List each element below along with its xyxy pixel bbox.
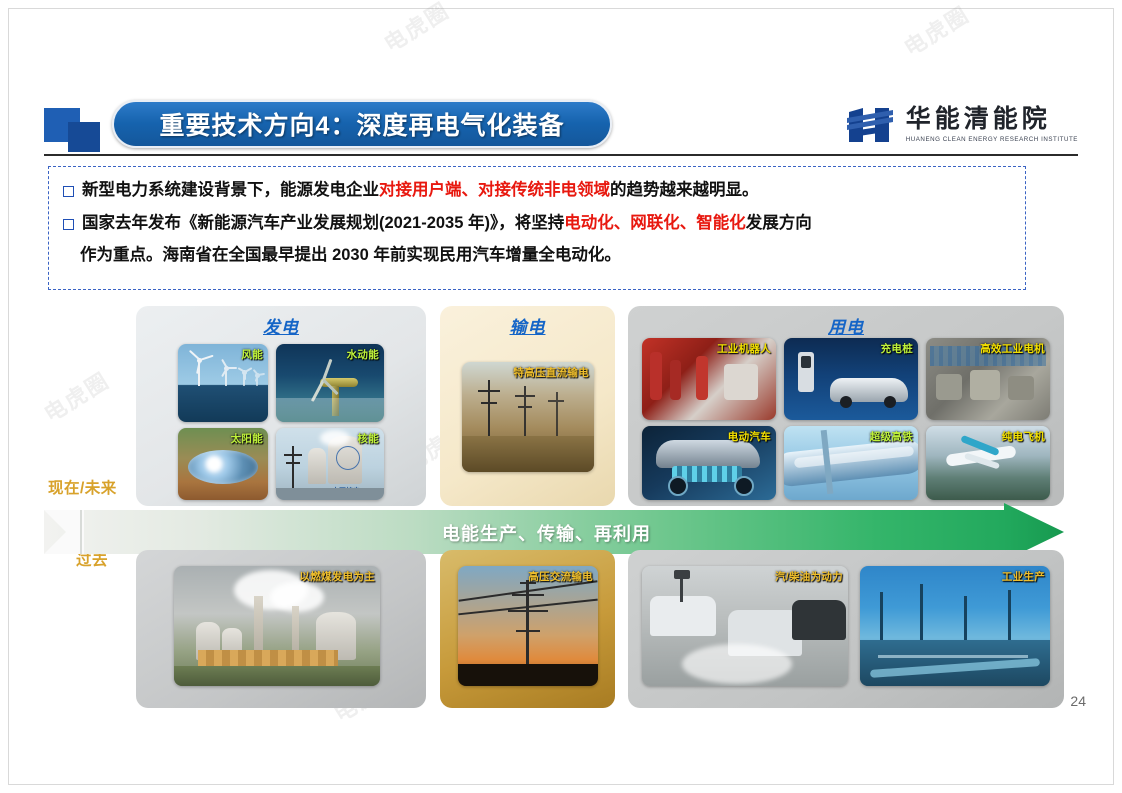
bullet-text-2-continued: 作为重点。海南省在全国最早提出 2030 年前实现民用汽车增量全电动化。 <box>63 242 1011 269</box>
arrow-label: 电能生产、传输、再利用 <box>442 520 651 546</box>
tile-robot: 工业机器人 <box>642 338 776 420</box>
tile-solar: 太阳能 <box>178 428 268 500</box>
panel-generation-past: 以燃煤发电为主 <box>136 550 426 708</box>
bullet-2-part-2: 发展方向 <box>746 214 812 232</box>
tile-caption: 汽/柴油为动力 <box>775 569 843 584</box>
tile-caption: 超级高铁 <box>870 429 913 444</box>
tile-caption: 高压交流输电 <box>528 569 593 584</box>
panel-transmission-past: 高压交流输电 <box>440 550 615 708</box>
bullet-text-1: 新型电力系统建设背景下，能源发电企业对接用户端、对接传统非电领域的趋势越来越明显… <box>82 177 759 204</box>
timeline-arrow: 电能生产、传输、再利用 <box>44 510 1064 554</box>
tile-hvac: 高压交流输电 <box>458 566 598 686</box>
column-header-transmission: 输电 <box>440 313 615 338</box>
page-title: 重要技术方向4：深度再电气化装备 <box>160 106 565 142</box>
logo-text-cn: 华能清能院 <box>906 107 1078 132</box>
tile-motor: 高效工业电机 <box>926 338 1050 420</box>
page-title-pill: 重要技术方向4：深度再电气化装备 <box>112 100 612 148</box>
panel-generation-present: 发电 <box>136 306 426 506</box>
tile-hyperloop: 超级高铁 <box>784 426 918 500</box>
tile-wind: 风能 <box>178 344 268 422</box>
axis-label-present: 现在/未来 <box>48 476 117 498</box>
bullet-text-2: 国家去年发布《新能源汽车产业发展规划(2021-2035 年)》，将坚持电动化、… <box>82 210 812 237</box>
bullet-2-part-0: 国家去年发布《新能源汽车产业发展规划(2021-2035 年)》，将坚持 <box>82 214 564 232</box>
bullet-square-icon <box>63 186 74 197</box>
panel-transmission-present: 输电 特高压直流输电 <box>440 306 615 506</box>
tile-caption: 以燃煤发电为主 <box>299 569 375 584</box>
bullet-2-part-1: 电动化、网联化、智能化 <box>564 214 746 232</box>
bullet-1-part-1: 对接用户端、对接传统非电领域 <box>379 181 610 199</box>
bullet-item: 国家去年发布《新能源汽车产业发展规划(2021-2035 年)》，将坚持电动化、… <box>63 210 1011 237</box>
page-number: 24 <box>1070 693 1086 709</box>
tile-caption: 太阳能 <box>231 431 263 446</box>
slide-header: 重要技术方向4：深度再电气化装备 华能清能院 HUANENG CLEAN ENE… <box>44 100 1078 156</box>
tile-uhvdc: 特高压直流输电 <box>462 362 594 472</box>
bullet-1-part-2: 的趋势越来越明显。 <box>610 181 759 199</box>
tile-charger: 充电桩 <box>784 338 918 420</box>
tile-ev: 电动汽车 <box>642 426 776 500</box>
accent-square-secondary <box>68 122 100 152</box>
tile-caption: 水动能 <box>347 347 379 362</box>
tile-traffic: 汽/柴油为动力 <box>642 566 848 686</box>
reelectrification-diagram: 现在/未来 过去 发电 <box>44 298 1064 710</box>
tile-caption: 风能 <box>241 347 263 362</box>
logo-text-en: HUANENG CLEAN ENERGY RESEARCH INSTITUTE <box>906 136 1078 143</box>
column-header-consumption: 用电 <box>628 313 1064 338</box>
tile-caption: 高效工业电机 <box>980 341 1045 356</box>
huaneng-logo-icon <box>845 104 897 146</box>
tile-caption: 工业生产 <box>1002 569 1045 584</box>
header-divider <box>44 154 1078 156</box>
column-header-generation: 发电 <box>136 313 426 338</box>
tile-caption: 纯电飞机 <box>1002 429 1045 444</box>
tile-tidal: 水动能 <box>276 344 384 422</box>
tile-electric-plane: 纯电飞机 <box>926 426 1050 500</box>
panel-consumption-present: 用电 工业机器人 充电桩 <box>628 306 1064 506</box>
panel-consumption-past: 汽/柴油为动力 工业生产 <box>628 550 1064 708</box>
bullet-square-icon <box>63 219 74 230</box>
bullet-1-part-0: 新型电力系统建设背景下，能源发电企业 <box>82 181 379 199</box>
tile-caption: 核能 <box>357 431 379 446</box>
slide: 电虎圈 电虎圈 电虎圈 电虎圈 电虎圈 电虎圈 重要技术方向4：深度再电气化装备… <box>0 0 1122 793</box>
tile-caption: 充电桩 <box>881 341 913 356</box>
company-logo: 华能清能院 HUANENG CLEAN ENERGY RESEARCH INST… <box>845 100 1078 150</box>
tile-caption: 电动汽车 <box>728 429 771 444</box>
arrow-notch <box>80 510 108 554</box>
watermark: 电虎圈 <box>377 0 455 59</box>
tile-coal: 以燃煤发电为主 <box>174 566 380 686</box>
watermark: 电虎圈 <box>897 0 975 63</box>
tile-caption: 工业机器人 <box>717 341 771 356</box>
bullet-item: 新型电力系统建设背景下，能源发电企业对接用户端、对接传统非电领域的趋势越来越明显… <box>63 177 1011 204</box>
tile-caption: 特高压直流输电 <box>513 365 589 380</box>
tile-nuclear: 中国核电 核能 <box>276 428 384 500</box>
tile-refinery: 工业生产 <box>860 566 1050 686</box>
bullet-callout-box: 新型电力系统建设背景下，能源发电企业对接用户端、对接传统非电领域的趋势越来越明显… <box>48 166 1026 290</box>
